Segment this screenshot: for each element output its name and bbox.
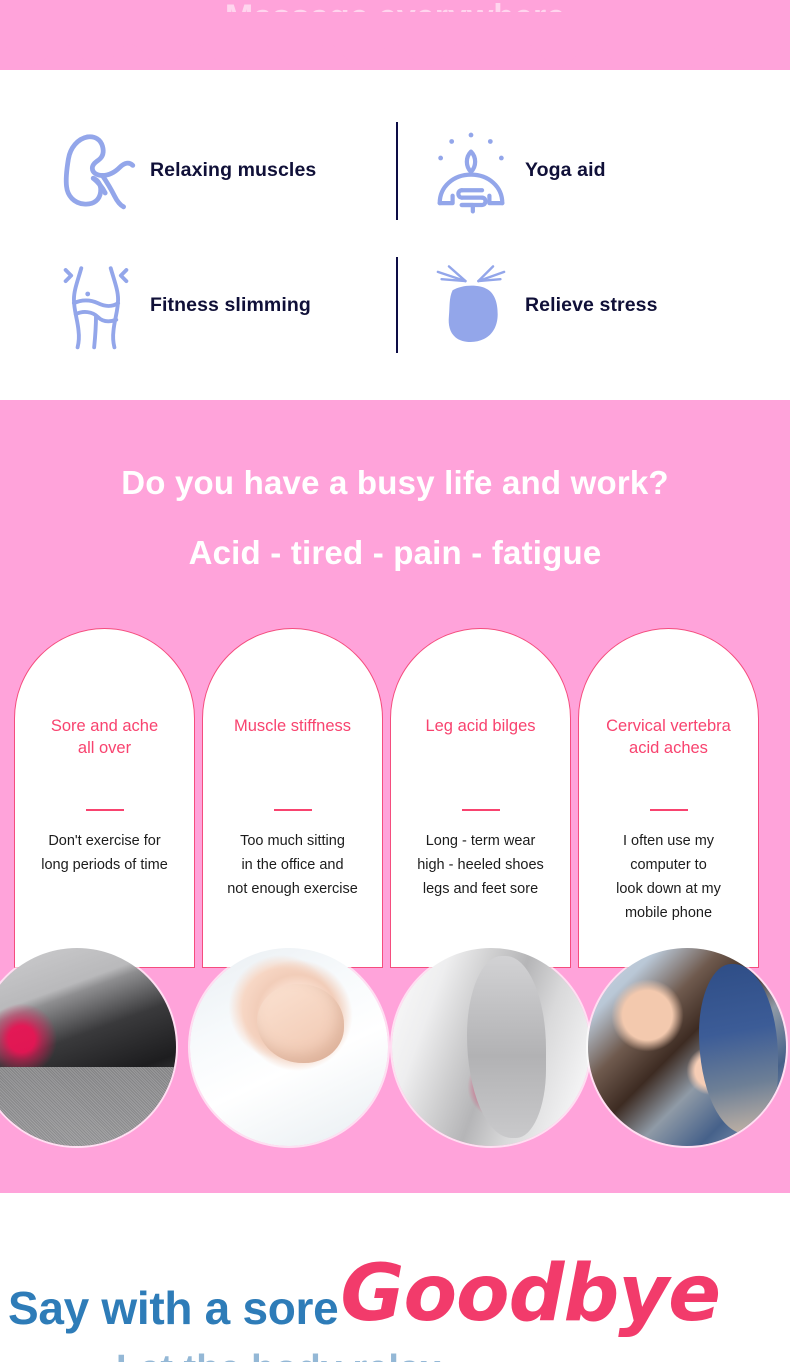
feature-yoga-aid[interactable]: Yoga aid <box>395 100 790 240</box>
slogan-pink-text: Goodbye <box>340 1265 720 1323</box>
card-body: Don't exercise forlong periods of time <box>15 829 194 877</box>
top-cutoff-heading: Massage everywhere <box>0 0 790 12</box>
card-title: Sore and acheall over <box>15 715 194 759</box>
knee-pain-photo <box>0 948 176 1146</box>
card-body: Long - term wearhigh - heeled shoeslegs … <box>391 829 570 901</box>
female-body-slimming-icon <box>48 257 144 353</box>
problem-section: Do you have a busy life and work? Acid -… <box>0 400 790 1193</box>
slogan-subtext-cutoff: Let the body relax <box>116 1349 676 1362</box>
card-body: I often use mycomputer tolook down at my… <box>579 829 758 925</box>
photo-image <box>392 948 590 1146</box>
feature-row-2: Fitness slimming Relieve stress <box>0 235 790 375</box>
card-rule-divider <box>650 809 688 811</box>
photo-image <box>0 948 176 1146</box>
card-rule-divider <box>462 809 500 811</box>
feature-label: Relieve stress <box>525 294 658 317</box>
photo-image <box>588 948 786 1146</box>
feature-row-1: Relaxing muscles <box>0 100 790 240</box>
problem-headline: Do you have a busy life and work? Acid -… <box>0 460 790 576</box>
headline-line-1: Do you have a busy life and work? <box>0 460 790 506</box>
photo-image <box>190 948 388 1146</box>
headline-line-2: Acid - tired - pain - fatigue <box>0 530 790 576</box>
flexed-biceps-icon <box>48 122 144 218</box>
problem-card[interactable]: Muscle stiffness Too much sittingin the … <box>202 628 383 968</box>
wave-divider-icon <box>0 30 790 70</box>
problem-card[interactable]: Leg acid bilges Long - term wearhigh - h… <box>390 628 571 968</box>
feature-grid: Relaxing muscles <box>0 70 790 400</box>
feature-relieve-stress[interactable]: Relieve stress <box>395 235 790 375</box>
card-title: Leg acid bilges <box>391 715 570 737</box>
feature-label: Yoga aid <box>525 159 606 182</box>
slogan-blue-text: Say with a sore <box>8 1279 338 1337</box>
top-pink-wave-band: Massage everywhere <box>0 0 790 70</box>
stress-relief-brain-icon <box>423 257 519 353</box>
problem-cards: Sore and acheall over Don't exercise for… <box>14 628 776 968</box>
card-title: Cervical vertebraacid aches <box>579 715 758 759</box>
bottom-slogan-section: Say with a sore Goodbye <box>0 1193 790 1362</box>
card-rule-divider <box>86 809 124 811</box>
tired-woman-phone-photo <box>588 948 786 1146</box>
problem-card[interactable]: Cervical vertebraacid aches I often use … <box>578 628 759 968</box>
leg-stretch-photo <box>392 948 590 1146</box>
feature-label: Fitness slimming <box>150 294 311 317</box>
card-rule-divider <box>274 809 312 811</box>
card-body: Too much sittingin the office andnot eno… <box>203 829 382 901</box>
clenched-fist-photo <box>190 948 388 1146</box>
feature-fitness-slimming[interactable]: Fitness slimming <box>0 235 395 375</box>
yoga-meditation-icon <box>423 122 519 218</box>
feature-label: Relaxing muscles <box>150 159 316 182</box>
problem-card[interactable]: Sore and acheall over Don't exercise for… <box>14 628 195 968</box>
problem-photo-row <box>0 948 790 1158</box>
feature-relaxing-muscles[interactable]: Relaxing muscles <box>0 100 395 240</box>
card-title: Muscle stiffness <box>203 715 382 737</box>
